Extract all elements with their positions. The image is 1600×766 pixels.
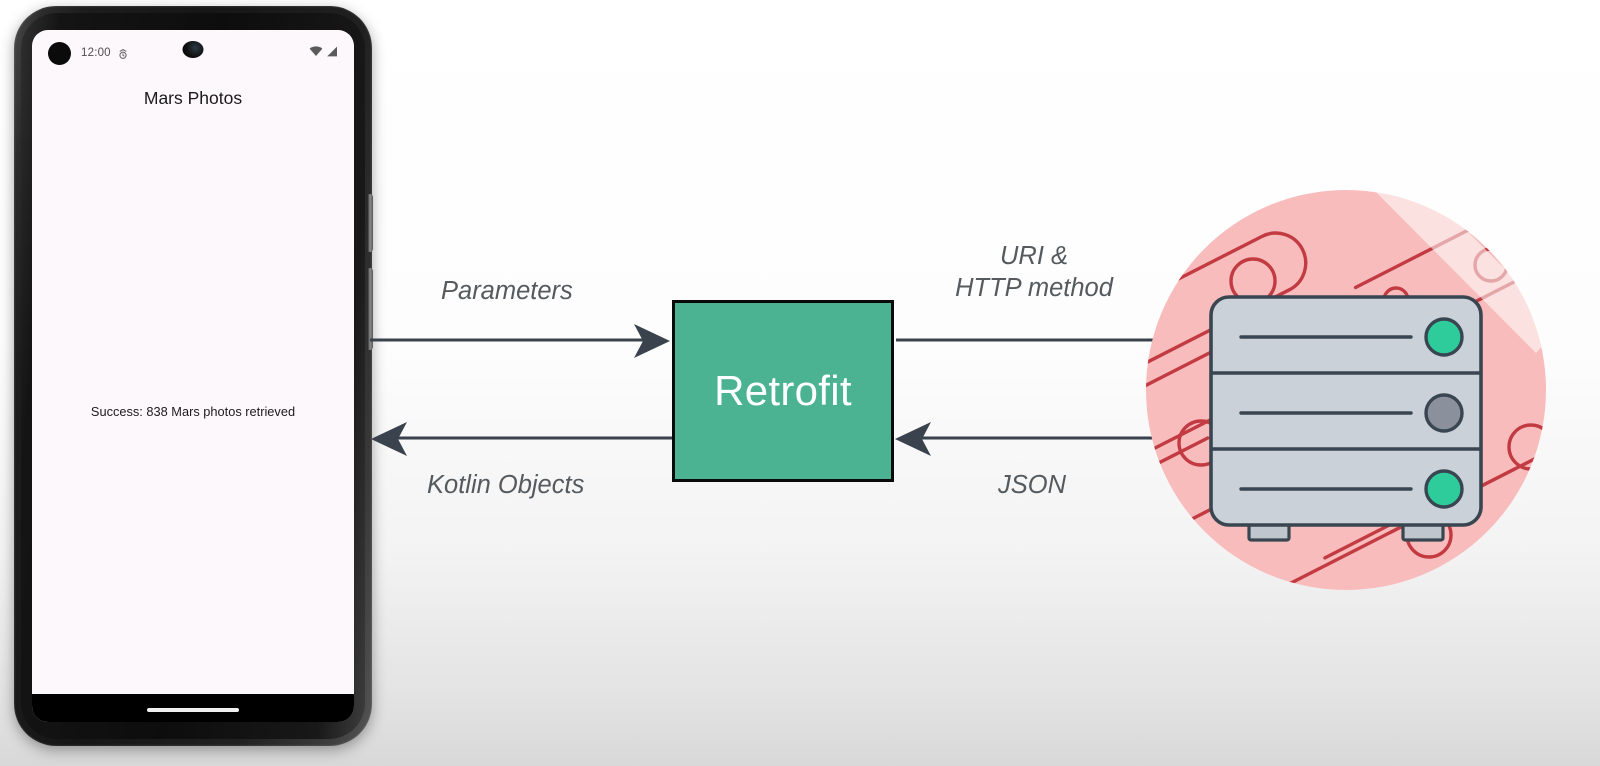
arrow-label-kotlin-objects: Kotlin Objects bbox=[427, 469, 584, 501]
android-phone-device: 12:00 bbox=[14, 6, 372, 746]
status-bar: 12:00 bbox=[32, 30, 354, 76]
phone-screen[interactable]: 12:00 bbox=[32, 30, 354, 722]
led-middle bbox=[1426, 395, 1462, 431]
app-status-text: Success: 838 Mars photos retrieved bbox=[32, 404, 354, 419]
status-time: 12:00 bbox=[81, 47, 111, 59]
cellular-signal-icon bbox=[326, 44, 338, 62]
arrow-phone-to-retrofit bbox=[370, 324, 670, 358]
web-server-icon bbox=[1141, 185, 1551, 595]
diagram-stage: 12:00 bbox=[0, 0, 1600, 766]
arrow-label-parameters: Parameters bbox=[441, 275, 573, 307]
server-rack bbox=[1211, 297, 1481, 540]
system-navigation-bar bbox=[32, 694, 354, 722]
led-top bbox=[1426, 319, 1462, 355]
power-button[interactable] bbox=[368, 194, 373, 252]
arrow-label-json: JSON bbox=[998, 469, 1066, 501]
arrow-retrofit-to-phone bbox=[371, 422, 672, 456]
arrow-label-uri-http-method: URI & HTTP method bbox=[949, 240, 1119, 304]
wifi-icon bbox=[309, 44, 323, 62]
led-bottom bbox=[1426, 471, 1462, 507]
front-camera-icon bbox=[183, 41, 204, 58]
status-bar-icons bbox=[309, 44, 338, 62]
gesture-pill[interactable] bbox=[147, 708, 239, 712]
retrofit-box: Retrofit bbox=[672, 300, 894, 482]
app-title: Mars Photos bbox=[32, 88, 354, 109]
alarm-icon bbox=[118, 48, 128, 60]
volume-button[interactable] bbox=[368, 268, 373, 350]
retrofit-box-label: Retrofit bbox=[714, 370, 852, 412]
camera-punchhole-icon bbox=[48, 42, 71, 65]
